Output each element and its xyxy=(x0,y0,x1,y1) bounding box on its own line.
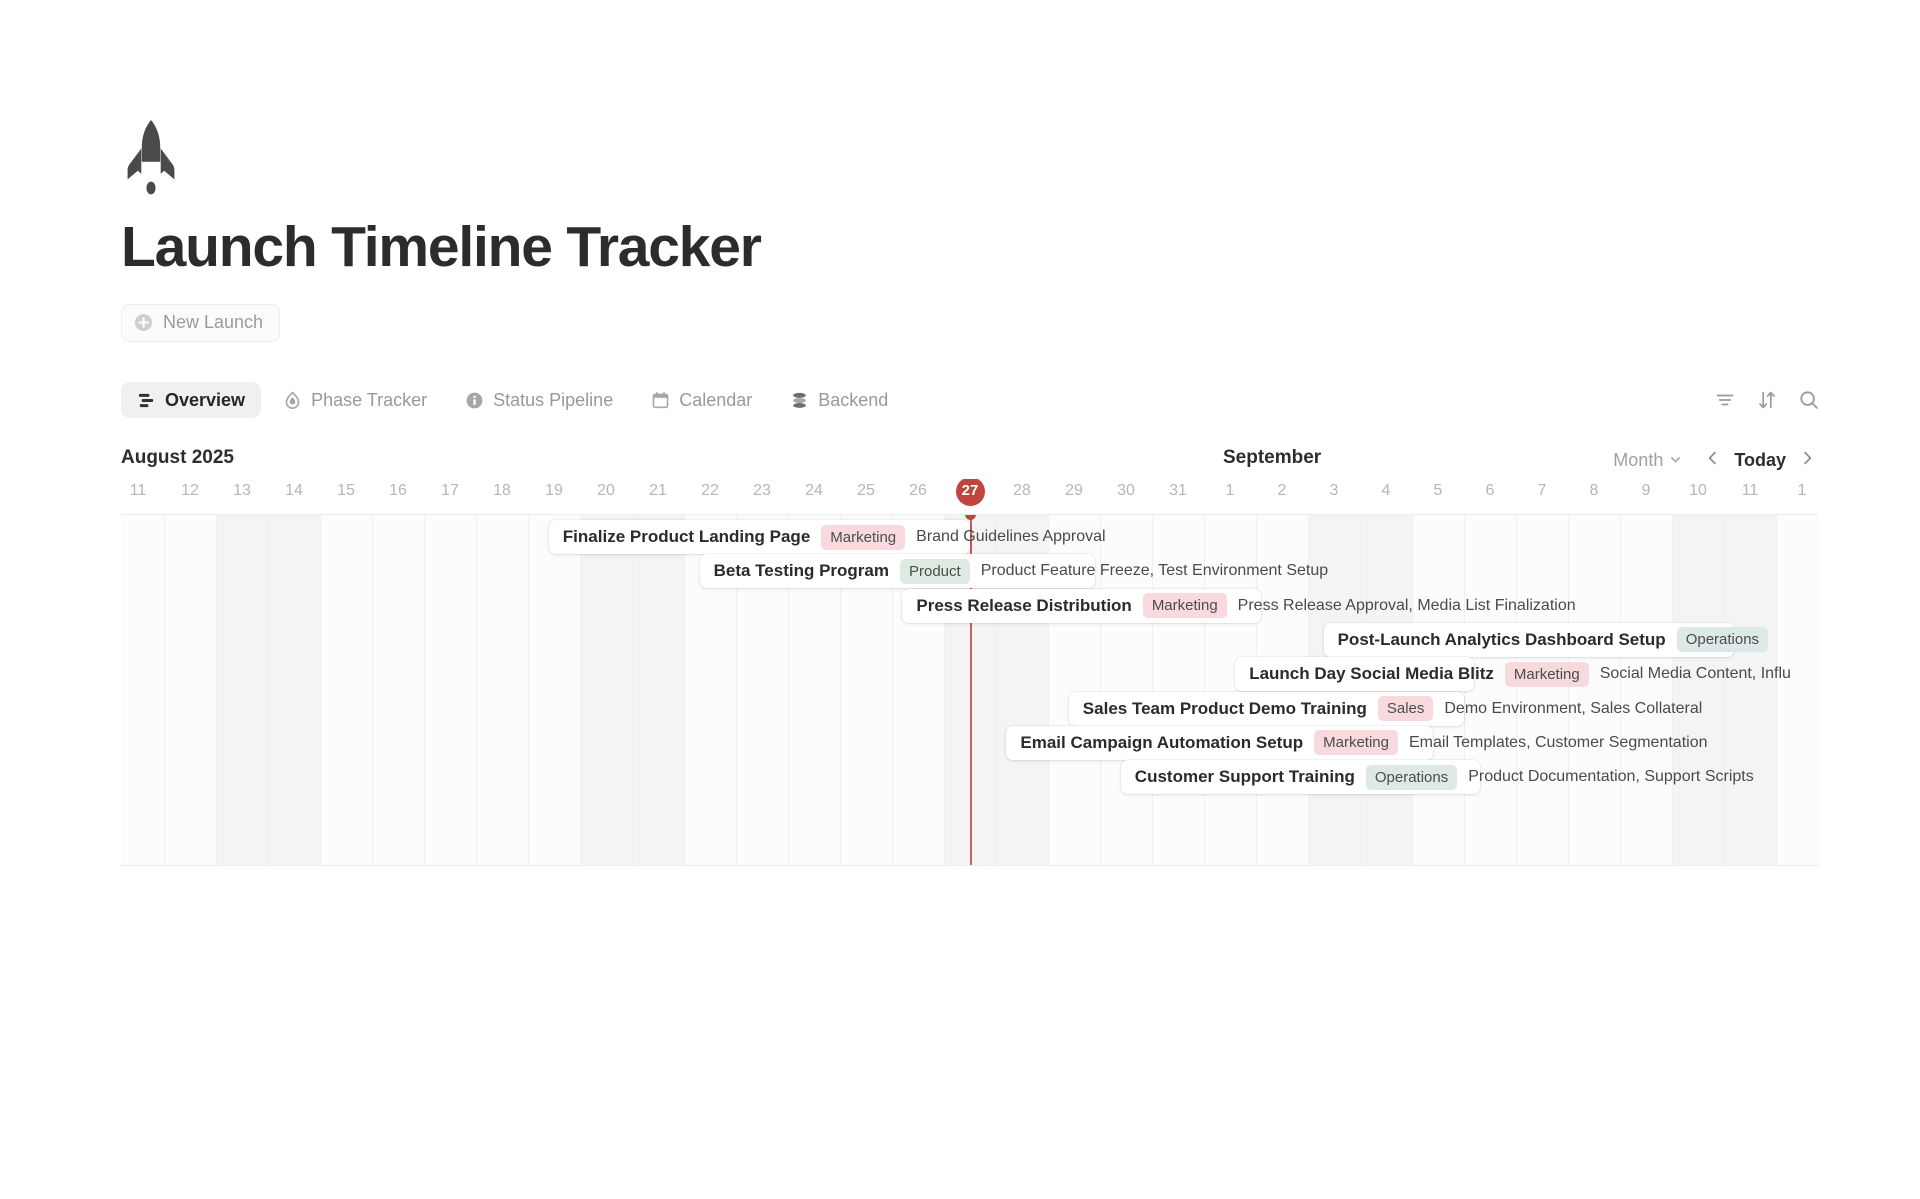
day-label[interactable]: 22 xyxy=(684,479,736,503)
month-label-right: September xyxy=(1223,447,1321,469)
grid-line xyxy=(424,515,425,865)
grid-line xyxy=(1152,515,1153,865)
calendar-icon xyxy=(651,391,670,410)
tab-calendar-label: Calendar xyxy=(679,390,752,411)
day-label[interactable]: 8 xyxy=(1568,479,1620,503)
day-label[interactable]: 20 xyxy=(580,479,632,503)
timeline-page: Launch Timeline Tracker New Launch xyxy=(0,0,1920,1199)
day-label[interactable]: 25 xyxy=(840,479,892,503)
grid-line xyxy=(1100,515,1101,865)
day-label[interactable]: 15 xyxy=(320,479,372,503)
month-label-left: August 2025 xyxy=(121,447,234,469)
zoom-level-select[interactable]: Month xyxy=(1613,450,1700,471)
day-ruler: 1112131415161718192021222324252627282930… xyxy=(121,479,1818,509)
grid-line xyxy=(528,515,529,865)
timeline-bar[interactable] xyxy=(902,589,1261,623)
chevron-left-icon xyxy=(1705,450,1721,471)
info-icon xyxy=(465,391,484,410)
today-pill: 27 xyxy=(956,479,985,506)
page-title: Launch Timeline Tracker xyxy=(121,218,1821,278)
view-tabs: Overview Phase Tracker xyxy=(121,382,904,418)
day-label[interactable]: 24 xyxy=(788,479,840,503)
grid-line xyxy=(320,515,321,865)
timeline-bar[interactable] xyxy=(1006,726,1432,760)
grid-line xyxy=(216,515,217,865)
grid-line xyxy=(1516,515,1517,865)
view-tabbar: Overview Phase Tracker xyxy=(121,382,1820,418)
grid-line xyxy=(476,515,477,865)
timeline-bar[interactable] xyxy=(1069,692,1464,726)
grid-line xyxy=(684,515,685,865)
day-label[interactable]: 6 xyxy=(1464,479,1516,503)
tab-backend[interactable]: Backend xyxy=(774,382,904,418)
new-launch-button[interactable]: New Launch xyxy=(121,304,280,342)
day-label[interactable]: 11 xyxy=(1724,479,1776,503)
timeline-bar[interactable] xyxy=(1324,623,1735,657)
day-label[interactable]: 1 xyxy=(1204,479,1256,503)
today-button[interactable]: Today xyxy=(1726,450,1794,471)
chevron-down-icon xyxy=(1669,450,1682,471)
rocket-icon xyxy=(121,118,1821,196)
day-label[interactable]: 28 xyxy=(996,479,1048,503)
day-label[interactable]: 13 xyxy=(216,479,268,503)
day-label[interactable]: 1 xyxy=(1776,479,1818,503)
tab-overview[interactable]: Overview xyxy=(121,382,261,418)
tab-calendar[interactable]: Calendar xyxy=(635,382,768,418)
page-header: Launch Timeline Tracker New Launch xyxy=(121,118,1821,342)
day-label[interactable]: 16 xyxy=(372,479,424,503)
zoom-level-label: Month xyxy=(1613,450,1663,471)
day-label[interactable]: 29 xyxy=(1048,479,1100,503)
day-label[interactable]: 19 xyxy=(528,479,580,503)
tab-status-pipeline-label: Status Pipeline xyxy=(493,390,613,411)
day-label[interactable]: 12 xyxy=(164,479,216,503)
day-label[interactable]: 30 xyxy=(1100,479,1152,503)
timeline-icon xyxy=(137,391,156,410)
day-label[interactable]: 26 xyxy=(892,479,944,503)
day-label[interactable]: 4 xyxy=(1360,479,1412,503)
filter-icon[interactable] xyxy=(1714,389,1736,411)
tab-overview-label: Overview xyxy=(165,390,245,411)
day-label[interactable]: 10 xyxy=(1672,479,1724,503)
grid-line xyxy=(632,515,633,865)
day-label[interactable]: 17 xyxy=(424,479,476,503)
grid-line xyxy=(1724,515,1725,865)
day-label[interactable]: 9 xyxy=(1620,479,1672,503)
timeline-bar[interactable] xyxy=(549,520,970,554)
timeline-header: August 2025 September Month Today xyxy=(121,447,1820,481)
day-label[interactable]: 7 xyxy=(1516,479,1568,503)
search-icon[interactable] xyxy=(1798,389,1820,411)
timeline-bar[interactable] xyxy=(1235,657,1474,691)
prev-period-button[interactable] xyxy=(1700,447,1726,473)
day-label[interactable]: 31 xyxy=(1152,479,1204,503)
grid-line xyxy=(1620,515,1621,865)
grid-line xyxy=(1776,515,1777,865)
timeline-bar[interactable] xyxy=(1121,760,1480,794)
day-label[interactable]: 14 xyxy=(268,479,320,503)
grid-line xyxy=(268,515,269,865)
tab-phase-tracker-label: Phase Tracker xyxy=(311,390,427,411)
tab-status-pipeline[interactable]: Status Pipeline xyxy=(449,382,629,418)
day-label[interactable]: 21 xyxy=(632,479,684,503)
tab-phase-tracker[interactable]: Phase Tracker xyxy=(267,382,443,418)
new-launch-label: New Launch xyxy=(163,312,263,333)
grid-line xyxy=(372,515,373,865)
day-label[interactable]: 5 xyxy=(1412,479,1464,503)
sort-icon[interactable] xyxy=(1756,389,1778,411)
droplet-icon xyxy=(283,391,302,410)
grid-line xyxy=(164,515,165,865)
chevron-right-icon xyxy=(1799,450,1815,471)
timeline-bar[interactable] xyxy=(700,554,1095,588)
day-label[interactable]: 3 xyxy=(1308,479,1360,503)
timeline-toolbar xyxy=(1714,389,1820,411)
plus-circle-icon xyxy=(134,313,153,332)
day-label-today[interactable]: 27 xyxy=(944,479,996,506)
tab-backend-label: Backend xyxy=(818,390,888,411)
day-label[interactable]: 23 xyxy=(736,479,788,503)
next-period-button[interactable] xyxy=(1794,447,1820,473)
day-label[interactable]: 2 xyxy=(1256,479,1308,503)
grid-line xyxy=(1672,515,1673,865)
day-label[interactable]: 11 xyxy=(121,479,164,503)
grid-line xyxy=(1568,515,1569,865)
grid-line xyxy=(580,515,581,865)
timeline-controls: Month Today xyxy=(1613,447,1820,473)
grid-line xyxy=(1204,515,1205,865)
day-label[interactable]: 18 xyxy=(476,479,528,503)
database-icon xyxy=(790,391,809,410)
